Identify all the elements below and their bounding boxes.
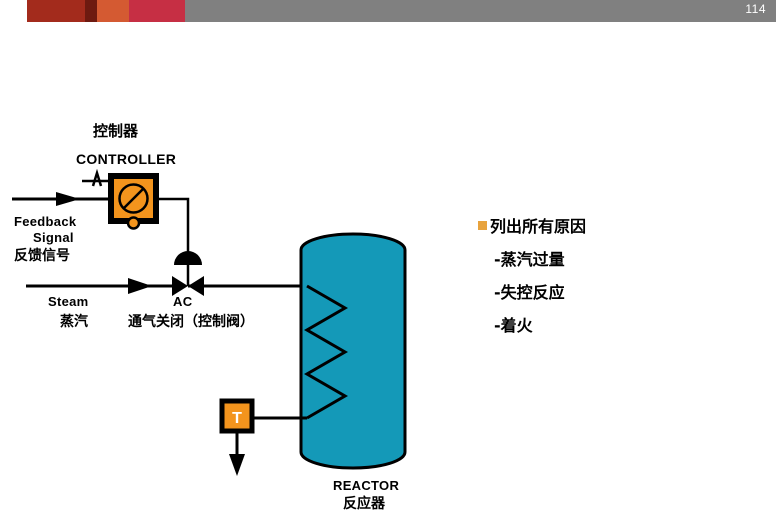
steam-arrow-icon	[26, 278, 180, 294]
reactor-label-en: REACTOR	[333, 479, 399, 493]
steam-label-cn: 蒸汽	[60, 315, 88, 330]
reactor-label-cn: 反应器	[343, 497, 385, 512]
bullet-square-icon	[478, 221, 487, 230]
feedback-label-cn: 反馈信号	[14, 249, 70, 264]
feedback-label-en-line1: Feedback	[14, 215, 76, 229]
controller-signal-lead-icon	[82, 173, 112, 186]
cause-list-item: -着火	[494, 312, 758, 336]
valve-label-cn: 通气关闭（控制阀）	[128, 315, 254, 330]
controller-label-en: CONTROLLER	[76, 152, 176, 167]
control-valve-icon	[172, 251, 204, 296]
reactor-vessel-icon	[301, 234, 405, 468]
down-arrow-icon	[229, 431, 245, 476]
valve-label-en: AC	[173, 295, 192, 309]
steam-label-en: Steam	[48, 295, 89, 309]
sensor-label: T	[232, 410, 242, 427]
cause-list-heading-text: 列出所有原因	[490, 213, 586, 237]
cause-list-item: -失控反应	[494, 279, 758, 303]
controller-circle-slash-icon	[111, 176, 156, 229]
temperature-sensor-icon[interactable]: T	[222, 401, 252, 431]
feedback-label-en-line2: Signal	[33, 231, 74, 245]
cause-list: 列出所有原因 -蒸汽过量 -失控反应 -着火	[478, 213, 758, 345]
controller-label-cn: 控制器	[93, 123, 138, 140]
cause-list-item: -蒸汽过量	[494, 246, 758, 270]
controller-to-valve-line	[156, 199, 188, 252]
cause-list-heading: 列出所有原因	[478, 213, 758, 237]
